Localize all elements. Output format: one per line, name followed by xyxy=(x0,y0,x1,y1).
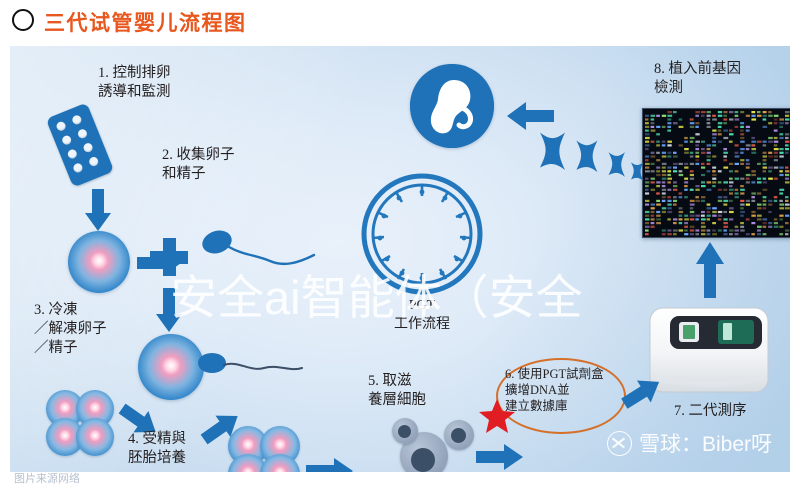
step-4-label: 4. 受精與 胚胎培養 xyxy=(128,430,186,468)
step-1-label: 1. 控制排卵 誘導和監測 xyxy=(98,64,171,102)
arrow-right-2 xyxy=(306,458,354,472)
step-2-label: 2. 收集卵子 和精子 xyxy=(162,146,235,184)
xueqiu-watermark: 雪球：Biber呀 xyxy=(607,428,772,458)
pill-pack-icon xyxy=(46,102,115,187)
step-8-label: 8. 植入前基因 檢測 xyxy=(654,60,741,98)
step-6-label: 6. 使用PGT試劑盒 擴增DNA並 建立數據庫 xyxy=(505,366,604,414)
step-7-label: 7. 二代測序 xyxy=(674,402,747,421)
oocyte-icon xyxy=(68,231,130,293)
arrow-left-1 xyxy=(506,102,554,130)
xueqiu-watermark-text: 雪球：Biber呀 xyxy=(639,428,772,458)
sequencer-machine-icon xyxy=(648,304,772,396)
trophectoderm-cell-small xyxy=(392,418,418,444)
fetus-badge-icon xyxy=(410,64,494,148)
pgt-flow-diagram: 1. 控制排卵 誘導和監測 3. 冷凍 ／解凍卵子 ／精子 2. 收集卵子 和精… xyxy=(10,46,790,472)
xueqiu-logo-icon xyxy=(607,431,632,456)
gel-bands xyxy=(643,109,790,237)
arrow-right-3 xyxy=(476,444,524,470)
arrow-down-1 xyxy=(85,189,111,231)
page-title: 三代试管婴儿流程图 xyxy=(44,7,247,37)
sequencing-gel-image xyxy=(642,108,790,238)
trophectoderm-cell-medium xyxy=(444,420,474,450)
step-3-label: 3. 冷凍 ／解凍卵子 ／精子 xyxy=(34,301,107,358)
fertilized-oocyte-icon xyxy=(138,334,204,400)
page-header: 三代试管婴儿流程图 xyxy=(0,0,800,44)
sperm-icon xyxy=(198,229,318,277)
overlay-watermark-text: 安全ai智能体（安全 xyxy=(170,272,583,324)
step-5-label: 5. 取滋 養層細胞 xyxy=(368,372,426,410)
sperm-icon-2 xyxy=(196,346,304,388)
arrow-up-1 xyxy=(696,242,724,298)
circle-outline-icon xyxy=(12,9,34,31)
screenshot-root: 三代试管婴儿流程图 1. 控制排卵 誘導和監測 3. 冷凍 ／解凍卵子 ／精子 … xyxy=(0,0,800,482)
